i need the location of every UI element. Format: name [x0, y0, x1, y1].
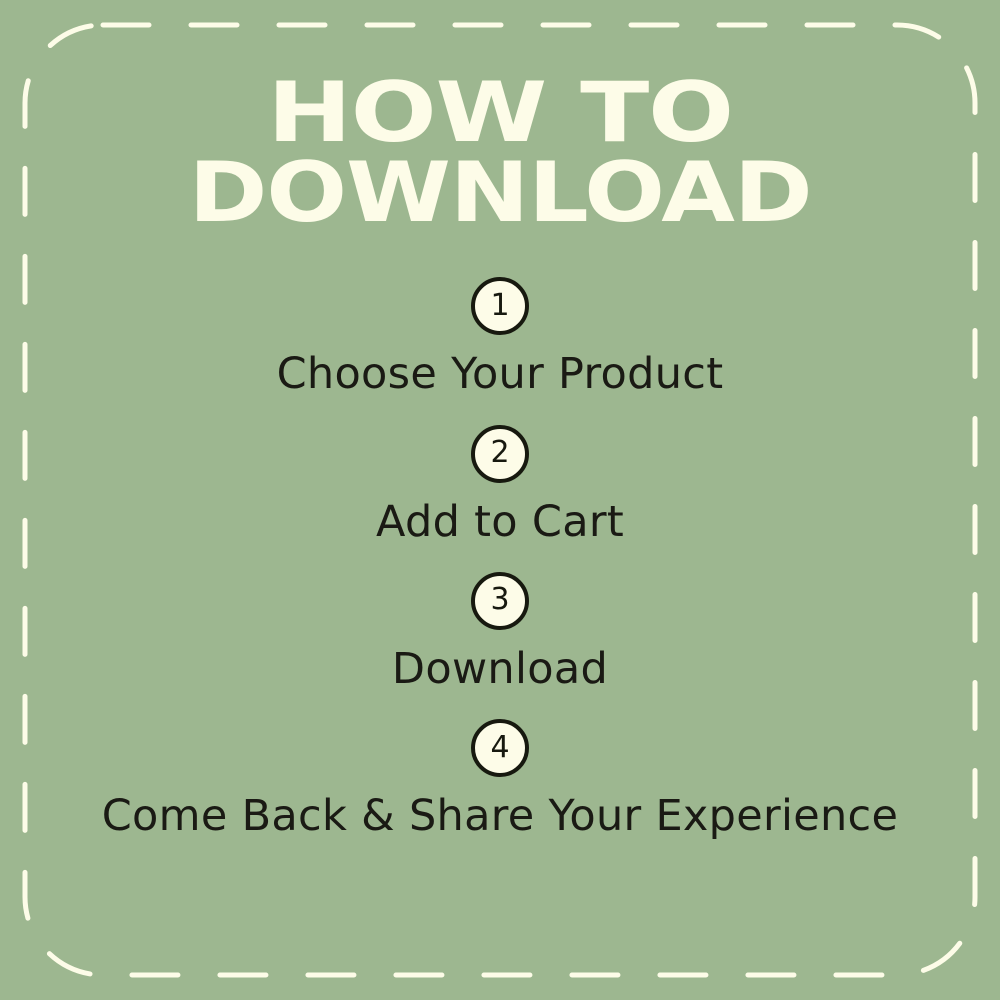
- step-number-label: 2: [490, 438, 509, 468]
- title-line-download: DOWNLOAD: [0, 154, 1000, 234]
- step-text-4: Come Back & Share Your Experience: [102, 793, 899, 840]
- step-number-badge-4: 4: [471, 719, 529, 777]
- how-to-download-poster: HOW TO DOWNLOAD 1 Choose Your Product 2 …: [0, 0, 1000, 1000]
- step-text-1: Choose Your Product: [277, 351, 724, 398]
- step-item-3: 3 Download: [0, 572, 1000, 693]
- step-number-badge-3: 3: [471, 572, 529, 630]
- step-number-label: 1: [490, 291, 509, 321]
- poster-content: HOW TO DOWNLOAD 1 Choose Your Product 2 …: [0, 0, 1000, 1000]
- step-item-1: 1 Choose Your Product: [0, 277, 1000, 398]
- step-text-2: Add to Cart: [376, 499, 624, 546]
- title-line-how-to: HOW TO: [0, 74, 1000, 154]
- steps-list: 1 Choose Your Product 2 Add to Cart 3 Do…: [0, 277, 1000, 840]
- poster-title: HOW TO DOWNLOAD: [0, 74, 1000, 229]
- step-number-badge-1: 1: [471, 277, 529, 335]
- step-number-label: 3: [490, 585, 509, 615]
- step-item-4: 4 Come Back & Share Your Experience: [0, 719, 1000, 840]
- step-text-3: Download: [392, 646, 608, 693]
- step-item-2: 2 Add to Cart: [0, 425, 1000, 546]
- step-number-label: 4: [490, 733, 509, 763]
- step-number-badge-2: 2: [471, 425, 529, 483]
